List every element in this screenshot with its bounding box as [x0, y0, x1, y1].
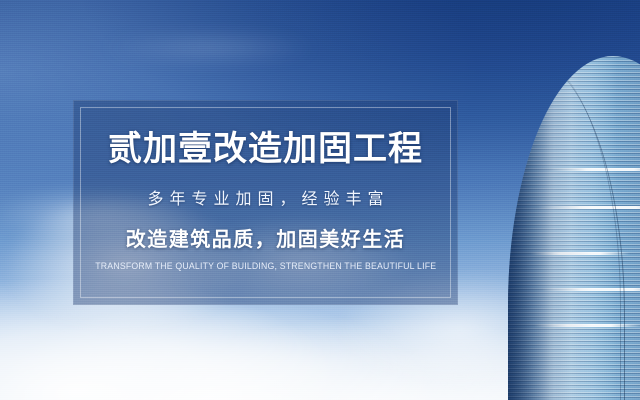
banner-headline: 贰加壹改造加固工程 [108, 130, 423, 169]
text-panel: 贰加壹改造加固工程 多年专业加固，经验丰富 改造建筑品质，加固美好生活 TRAN… [73, 100, 458, 305]
banner-canvas: 贰加壹改造加固工程 多年专业加固，经验丰富 改造建筑品质，加固美好生活 TRAN… [0, 0, 640, 400]
skyscraper-photo [490, 0, 640, 400]
banner-tagline: 改造建筑品质，加固美好生活 [126, 223, 406, 252]
panel-content: 贰加壹改造加固工程 多年专业加固，经验丰富 改造建筑品质，加固美好生活 TRAN… [73, 100, 458, 305]
banner-english-subtitle: TRANSFORM THE QUALITY OF BUILDING, STREN… [95, 261, 436, 271]
skyscraper-left-shadow [508, 56, 640, 400]
banner-subline: 多年专业加固，经验丰富 [141, 185, 389, 209]
cloud-wisp-upper [60, 24, 360, 72]
skyscraper-body [508, 56, 640, 400]
